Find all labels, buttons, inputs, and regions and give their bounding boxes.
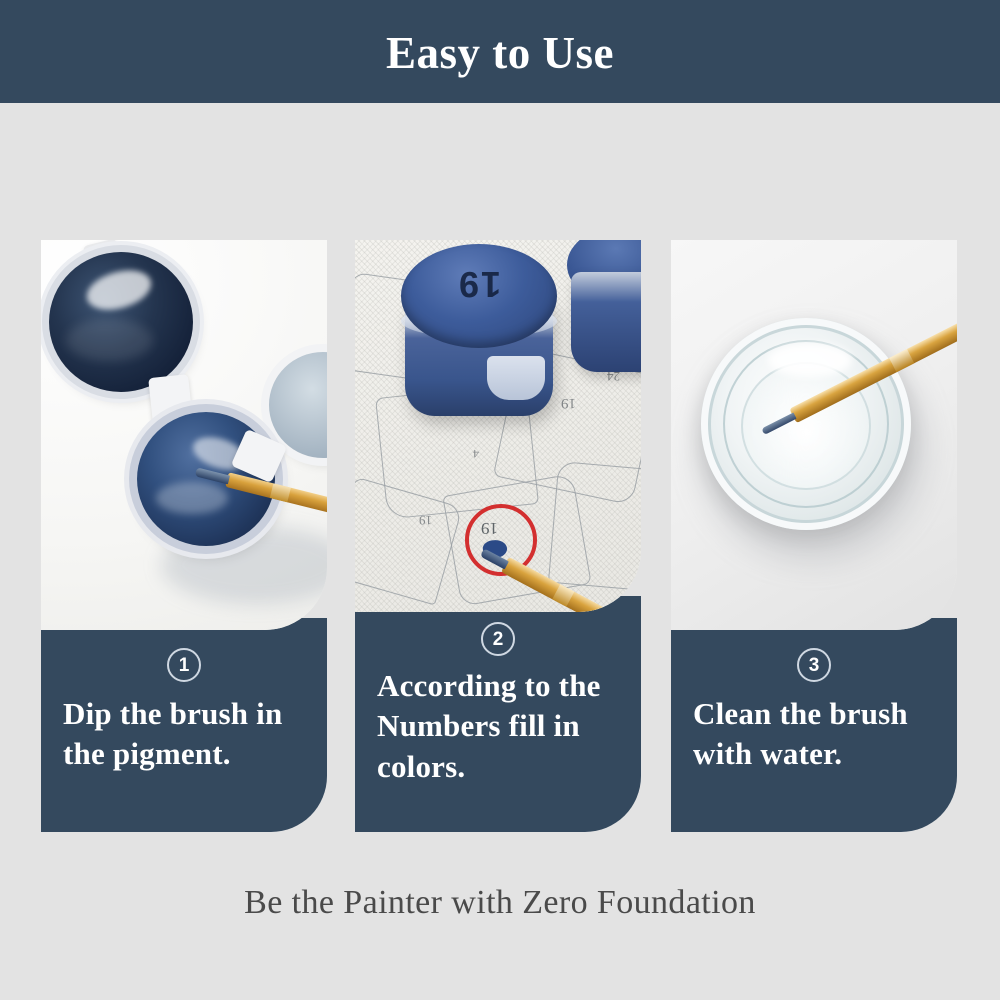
canvas-number-label: 19 bbox=[561, 394, 576, 411]
water-glass bbox=[701, 318, 911, 530]
step-number-badge-1: 1 bbox=[167, 648, 201, 682]
canvas-outline bbox=[548, 461, 641, 593]
step-badge-row-2: 2 bbox=[377, 622, 619, 656]
pot-cap: 19 bbox=[401, 244, 557, 348]
canvas-number-label: 4 bbox=[473, 446, 479, 461]
step-card-3: 3 Clean the brush with water. bbox=[671, 240, 957, 832]
paint-pot-open-dark bbox=[49, 252, 193, 392]
step-caption-3: 3 Clean the brush with water. bbox=[671, 618, 957, 832]
step-number-badge-3: 3 bbox=[797, 648, 831, 682]
canvas-number-label: 19 bbox=[419, 512, 432, 528]
pot-lid-flap bbox=[487, 356, 545, 400]
pot-number-label: 19 bbox=[457, 263, 501, 305]
step-caption-text-3: Clean the brush with water. bbox=[693, 694, 935, 775]
highlighted-number-label: 19 bbox=[481, 518, 498, 538]
paint-pot-primary: 19 bbox=[395, 244, 563, 422]
step-photo-1 bbox=[41, 240, 327, 630]
step-badge-row-1: 1 bbox=[63, 648, 305, 682]
step-photo-3 bbox=[671, 240, 957, 630]
footer-tagline: Be the Painter with Zero Foundation bbox=[0, 884, 1000, 922]
step-card-2: 2 According to the Numbers fill in color… bbox=[355, 240, 641, 832]
paint-pot-secondary bbox=[567, 240, 641, 372]
page-title: Easy to Use bbox=[386, 31, 614, 76]
pot-body bbox=[571, 272, 641, 372]
step-caption-text-1: Dip the brush in the pigment. bbox=[63, 694, 305, 775]
page-footer: Be the Painter with Zero Foundation bbox=[0, 884, 1000, 922]
step-card-1: 1 Dip the brush in the pigment. bbox=[41, 240, 327, 832]
page-header: Easy to Use bbox=[0, 0, 1000, 103]
step-caption-2: 2 According to the Numbers fill in color… bbox=[355, 596, 641, 832]
step-photo-2: 19 24 19 4 19 19 bbox=[355, 240, 641, 612]
step-caption-text-2: According to the Numbers fill in colors. bbox=[377, 666, 619, 787]
step-number-badge-2: 2 bbox=[481, 622, 515, 656]
step-badge-row-3: 3 bbox=[693, 648, 935, 682]
step-caption-1: 1 Dip the brush in the pigment. bbox=[41, 618, 327, 832]
steps-row: 1 Dip the brush in the pigment. 2 Accord… bbox=[41, 240, 959, 832]
